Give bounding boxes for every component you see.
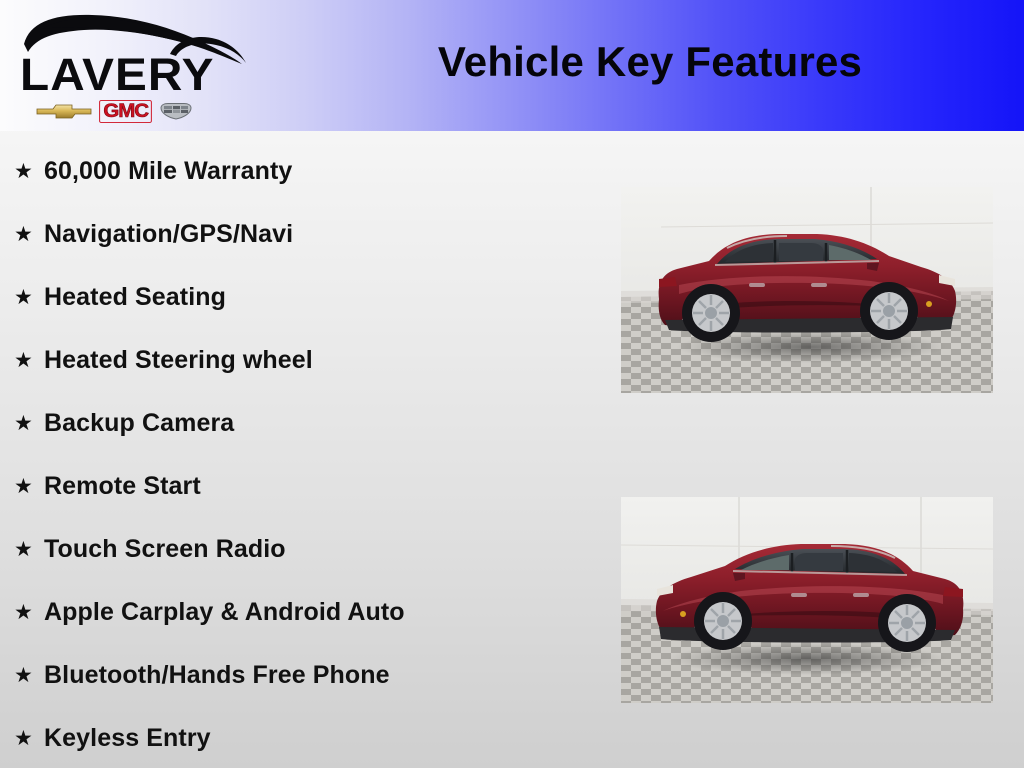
- vehicle-photo-passenger-side: [621, 187, 993, 393]
- star-icon: ★: [14, 224, 44, 245]
- list-item: ★ 60,000 Mile Warranty: [0, 140, 600, 203]
- list-item: ★ Bluetooth/Hands Free Phone: [0, 644, 600, 707]
- list-item: ★ Backup Camera: [0, 392, 600, 455]
- feature-label: Backup Camera: [44, 409, 234, 438]
- feature-label: Bluetooth/Hands Free Phone: [44, 661, 390, 690]
- feature-label: Heated Seating: [44, 283, 226, 312]
- star-icon: ★: [14, 161, 44, 182]
- star-icon: ★: [14, 728, 44, 749]
- star-icon: ★: [14, 665, 44, 686]
- chevrolet-bowtie-icon: [36, 101, 92, 121]
- dealer-logo: LAVERY GMC: [14, 6, 264, 124]
- list-item: ★ Heated Seating: [0, 266, 600, 329]
- vehicle-photo-1-graphic: [621, 187, 993, 393]
- vehicle-photo-2-graphic: [621, 497, 993, 703]
- feature-label: Touch Screen Radio: [44, 535, 286, 564]
- star-icon: ★: [14, 287, 44, 308]
- list-item: ★ Remote Start: [0, 455, 600, 518]
- list-item: ★ Keyless Entry: [0, 707, 600, 768]
- cadillac-crest-icon: [159, 101, 193, 121]
- list-item: ★ Touch Screen Radio: [0, 518, 600, 581]
- star-icon: ★: [14, 602, 44, 623]
- star-icon: ★: [14, 476, 44, 497]
- list-item: ★ Apple Carplay & Android Auto: [0, 581, 600, 644]
- vehicle-photo-driver-side: [621, 497, 993, 703]
- features-list: ★ 60,000 Mile Warranty ★ Navigation/GPS/…: [0, 140, 600, 768]
- list-item: ★ Navigation/GPS/Navi: [0, 203, 600, 266]
- list-item: ★ Heated Steering wheel: [0, 329, 600, 392]
- feature-label: 60,000 Mile Warranty: [44, 157, 292, 186]
- feature-label: Navigation/GPS/Navi: [44, 220, 293, 249]
- feature-label: Apple Carplay & Android Auto: [44, 598, 405, 627]
- star-icon: ★: [14, 413, 44, 434]
- feature-label: Keyless Entry: [44, 724, 211, 753]
- feature-label: Remote Start: [44, 472, 201, 501]
- star-icon: ★: [14, 350, 44, 371]
- gmc-badge: GMC: [99, 100, 152, 123]
- dealer-logo-wordmark: LAVERY: [20, 52, 272, 98]
- header-bar: LAVERY GMC: [0, 0, 1024, 131]
- star-icon: ★: [14, 539, 44, 560]
- feature-label: Heated Steering wheel: [44, 346, 313, 375]
- brand-badges: GMC: [36, 98, 236, 124]
- page-title: Vehicle Key Features: [300, 38, 1000, 86]
